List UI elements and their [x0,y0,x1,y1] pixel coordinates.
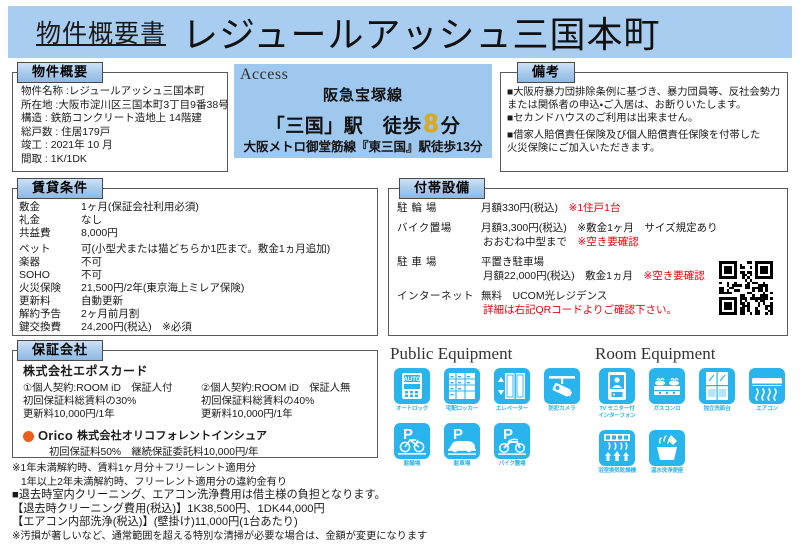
table-row: 楽器 不可 [19,256,371,269]
qr-code[interactable] [719,261,773,315]
table-row: 鍵交換費 24,200円(税込) ※必須 [19,321,371,334]
row-key: 火災保険 [19,282,81,295]
plan-renew: 更新料10,000円/1年 [23,408,191,421]
row-key: 礼金 [19,214,81,227]
access-train-line: 阪急宝塚線 [234,84,492,105]
equipment-label: 駐車場 [440,461,484,468]
equipment-item: 浴室換気乾燥機 [595,430,639,475]
room-equipment-grid: TV モニター付 インターフォン ガスコンロ 独立洗面台 [595,368,795,479]
public-equipment-group: Public Equipment AUTO オートロック 宅配ロッカー [390,344,590,472]
document-type-label: 物件概要書 [36,14,166,50]
access-station-prefix: 「三国」駅 徒歩 [266,116,422,137]
table-row: 更新料 自動更新 [19,295,371,308]
row-note: ※1住戸1台 [569,202,621,214]
row-key: 駐 車 場 [397,256,481,269]
row-value: 月額330円(税込) ※1住戸1台 [481,202,781,215]
room-equipment-group: Room Equipment TV モニター付 インターフォン ガスコンロ [595,344,795,479]
guarantee-company-tab: 保証会社 [17,340,103,361]
footer-note-line: ※1年未満解約時、賃料1ヶ月分＋フリーレント適用分 [12,462,432,476]
header-banner: 物件概要書 レジュールアッシュ三国本町 [8,6,792,58]
table-row: 敷金 1ヶ月(保証会社利用必須) [19,201,371,214]
row-value: 2ヶ月前月割 [81,308,371,321]
equipment-label: 宅配ロッカー [440,406,484,413]
subrow-text: おおむね中型まで [483,236,578,248]
row-value-text: 月額330円(税込) [481,202,569,214]
row-value: 24,200円(税込) ※必須 [81,321,371,334]
rental-conditions-tab: 賃貸条件 [17,178,103,199]
delivery-locker-icon [444,368,480,404]
equipment-item: エアコン [745,368,789,420]
plan-fee: 初回保証料総賃料の40% [201,395,369,408]
guarantee-company-body: 株式会社エポスカード ①個人契約:ROOM iD 保証人付 初回保証料総賃料の3… [13,351,377,460]
overview-line: 所在地 :大阪市淀川区三国本町3丁目9番38号 [21,99,219,113]
access-label: Access [240,66,288,84]
table-row: ペット 可(小型犬または猫どちらか1匹まで。敷金1ヵ月追加) [19,243,371,256]
orico-fee-text: 初回保証料50% 継続保証委託料10,000円/年 [23,446,369,460]
guarantee-plan-2: ②個人契約:ROOM iD 保証人無 初回保証料総賃料の40% 更新料10,00… [201,382,369,421]
tv-intercom-icon [599,368,635,404]
plan-title: ②個人契約:ROOM iD 保証人無 [201,382,369,395]
equipment-label: 独立洗面台 [695,406,739,413]
row-key: 楽器 [19,256,81,269]
footer-note-line: 【エアコン内部洗浄(税込)】(壁掛け)11,000円(1台あたり) [12,516,432,530]
footer-note-line: 1年以上2年未満解約時、フリーレント適用分の違約金有り [12,476,432,490]
security-camera-icon [544,368,580,404]
orico-brand-label: Orico [38,429,73,443]
footer-note-line: ※汚損が著しいなど、通常範囲を超える特別な清掃が必要な場合は、金額が変更になりま… [12,530,432,544]
guarantee-plans: ①個人契約:ROOM iD 保証人付 初回保証料総賃料の30% 更新料10,00… [23,382,369,421]
access-station-walk: 「三国」駅 徒歩8分 [234,108,492,139]
plan-renew: 更新料10,000円/1年 [201,408,369,421]
row-key: 駐 輪 場 [397,202,481,215]
equipment-section: Public Equipment AUTO オートロック 宅配ロッカー [390,344,794,474]
remarks-tab: 備考 [517,62,575,83]
guarantee-plan-1: ①個人契約:ROOM iD 保証人付 初回保証料総賃料の30% 更新料10,00… [23,382,191,421]
overview-line: 間取 : 1K/1DK [21,153,219,167]
equipment-label: ガスコンロ [645,406,689,413]
subrow-note: ※空き要確認 [578,236,639,248]
access-walk-minutes: 8 [422,108,441,138]
equipment-label: エレベーター [490,406,534,413]
plan-title: ①個人契約:ROOM iD 保証人付 [23,382,191,395]
row-key: 敷金 [19,201,81,214]
table-row: 火災保険 21,500円/2年(東京海上ミレア保険) [19,282,371,295]
table-row: 共益費 8,000円 [19,227,371,240]
subrow-text: 月額22,000円(税込) 敷金1ヵ月 [483,270,643,282]
remark-line: ■大阪府暴力団排除条例に基づき、暴力団員等、反社会勢力 [507,86,781,99]
guarantee-company-name: 株式会社エポスカード [23,364,369,378]
footer-notes: ※1年未満解約時、賃料1ヶ月分＋フリーレント適用分 1年以上2年未満解約時、フリ… [12,462,432,544]
bicycle-parking-icon: P [394,423,430,459]
access-secondary-station: 大阪メトロ御堂筋線『東三国』駅徒歩13分 [234,136,492,155]
orico-dot-icon [23,431,34,442]
equipment-item: P 駐車場 [440,423,484,468]
room-equipment-title: Room Equipment [595,344,795,364]
table-row: SOHO 不可 [19,269,371,282]
elevator-icon [494,368,530,404]
equipment-item: 防犯カメラ [540,368,584,413]
overview-line: 構造 : 鉄筋コンクリート造地上 14階建 [21,112,219,126]
rental-conditions-body: 敷金 1ヶ月(保証会社利用必須) 礼金 なし 共益費 8,000円 ペット 可(… [13,189,377,334]
footer-note-line: 【退去時クリーニング費用(税込)】1K38,500円、1DK44,000円 [12,503,432,517]
overview-line: 総戸数 : 住居179戸 [21,126,219,140]
bike-parking-icon: P [494,423,530,459]
row-key: インターネット [397,290,481,303]
equipment-item: 宅配ロッカー [440,368,484,413]
footer-note-line: ■退去時室内クリーニング、エアコン洗浄費用は借主様の負担となります。 [12,489,432,503]
property-overview-panel: 物件概要 物件名称 :レジュールアッシュ三国本町 所在地 :大阪市淀川区三国本町… [12,72,228,172]
property-overview-body: 物件名称 :レジュールアッシュ三国本町 所在地 :大阪市淀川区三国本町3丁目9番… [13,73,227,170]
bath-dryer-icon [599,430,635,466]
access-minutes-unit: 分 [441,116,461,137]
row-value: 1ヶ月(保証会社利用必須) [81,201,371,214]
guarantee-company-panel: 保証会社 株式会社エポスカード ①個人契約:ROOM iD 保証人付 初回保証料… [12,350,378,458]
overview-line: 物件名称 :レジュールアッシュ三国本町 [21,85,219,99]
row-key: ペット [19,243,81,256]
access-box: Access 阪急宝塚線 「三国」駅 徒歩8分 大阪メトロ御堂筋線『東三国』駅徒… [234,64,492,158]
equipment-label: 防犯カメラ [540,406,584,413]
remark-line: 火災保険にご加入いただきます。 [507,142,781,155]
remarks-panel: 備考 ■大阪府暴力団排除条例に基づき、暴力団員等、反社会勢力 または関係者の申込… [500,72,788,172]
row-value: 自動更新 [81,295,371,308]
equipment-label: オートロック [390,406,434,413]
row-value: 不可 [81,269,371,282]
washstand-icon [699,368,735,404]
table-row: 解約予告 2ヶ月前月割 [19,308,371,321]
equipment-label: 温水洗浄便座 [645,468,689,475]
row-key: 共益費 [19,227,81,240]
overview-line: 竣工 : 2021年 10 月 [21,139,219,153]
facility-body: 駐 輪 場 月額330円(税込) ※1住戸1台 バイク置場 月額3,300円(税… [389,189,787,317]
air-conditioner-icon [749,368,785,404]
subrow-note: ※空き要確認 [643,270,704,282]
rental-conditions-panel: 賃貸条件 敷金 1ヶ月(保証会社利用必須) 礼金 なし 共益費 8,000円 ペ… [12,188,378,336]
page-title: レジュールアッシュ三国本町 [182,6,660,58]
row-value: 8,000円 [81,227,371,240]
equipment-label: 浴室換気乾燥機 [595,468,639,475]
row-key: バイク置場 [397,222,481,235]
row-value: 月額3,300円(税込) ※敷金1ヶ月 サイズ規定あり [481,222,781,235]
equipment-item: P バイク置場 [490,423,534,468]
plan-fee: 初回保証料総賃料の30% [23,395,191,408]
car-parking-icon: P [444,423,480,459]
row-value: 不可 [81,256,371,269]
row-key: 更新料 [19,295,81,308]
auto-lock-icon: AUTO [394,368,430,404]
property-summary-document: 物件概要書 レジュールアッシュ三国本町 物件概要 物件名称 :レジュールアッシュ… [0,0,800,550]
public-equipment-grid: AUTO オートロック 宅配ロッカー エレベーター [390,368,590,472]
property-overview-tab: 物件概要 [17,62,103,83]
table-row: 礼金 なし [19,214,371,227]
equipment-item: 独立洗面台 [695,368,739,420]
row-value: 可(小型犬または猫どちらか1匹まで。敷金1ヵ月追加) [81,243,371,256]
equipment-item: AUTO オートロック [390,368,434,413]
facility-row-motorbike: バイク置場 月額3,300円(税込) ※敷金1ヶ月 サイズ規定あり [397,222,781,235]
facility-panel: 付帯設備 駐 輪 場 月額330円(税込) ※1住戸1台 バイク置場 月額3,3… [388,188,788,336]
equipment-item: ガスコンロ [645,368,689,420]
facility-subrow-motorbike: おおむね中型まで ※空き要確認 [397,236,781,249]
equipment-item: 温水洗浄便座 [645,430,689,475]
public-equipment-title: Public Equipment [390,344,590,364]
remark-line: ■セカンドハウスのご利用は出来ません。 [507,112,781,125]
row-key: 解約予告 [19,308,81,321]
svg-text:AUTO: AUTO [404,377,421,383]
row-key: SOHO [19,269,81,282]
equipment-label: バイク置場 [490,461,534,468]
equipment-item: エレベーター [490,368,534,413]
equipment-item: TV モニター付 インターフォン [595,368,639,420]
remarks-body: ■大阪府暴力団排除条例に基づき、暴力団員等、反社会勢力 または関係者の申込・ご入… [501,73,787,155]
equipment-label: TV モニター付 インターフォン [595,406,639,420]
row-value: なし [81,214,371,227]
orico-logo-row: Orico 株式会社オリコフォレントインシュア [23,429,369,443]
facility-row-bicycle: 駐 輪 場 月額330円(税込) ※1住戸1台 [397,202,781,215]
svg-text:P: P [453,426,463,443]
orico-company-name: 株式会社オリコフォレントインシュア [77,429,267,443]
remark-line: または関係者の申込・ご入居は、お断りいたします。 [507,99,781,112]
equipment-label: エアコン [745,406,789,413]
remark-line: ■借家人賠償責任保険及び個人賠償責任保険を付帯した [507,129,781,142]
gas-stove-icon [649,368,685,404]
row-value: 21,500円/2年(東京海上ミレア保険) [81,282,371,295]
row-key: 鍵交換費 [19,321,81,334]
washlet-icon [649,430,685,466]
